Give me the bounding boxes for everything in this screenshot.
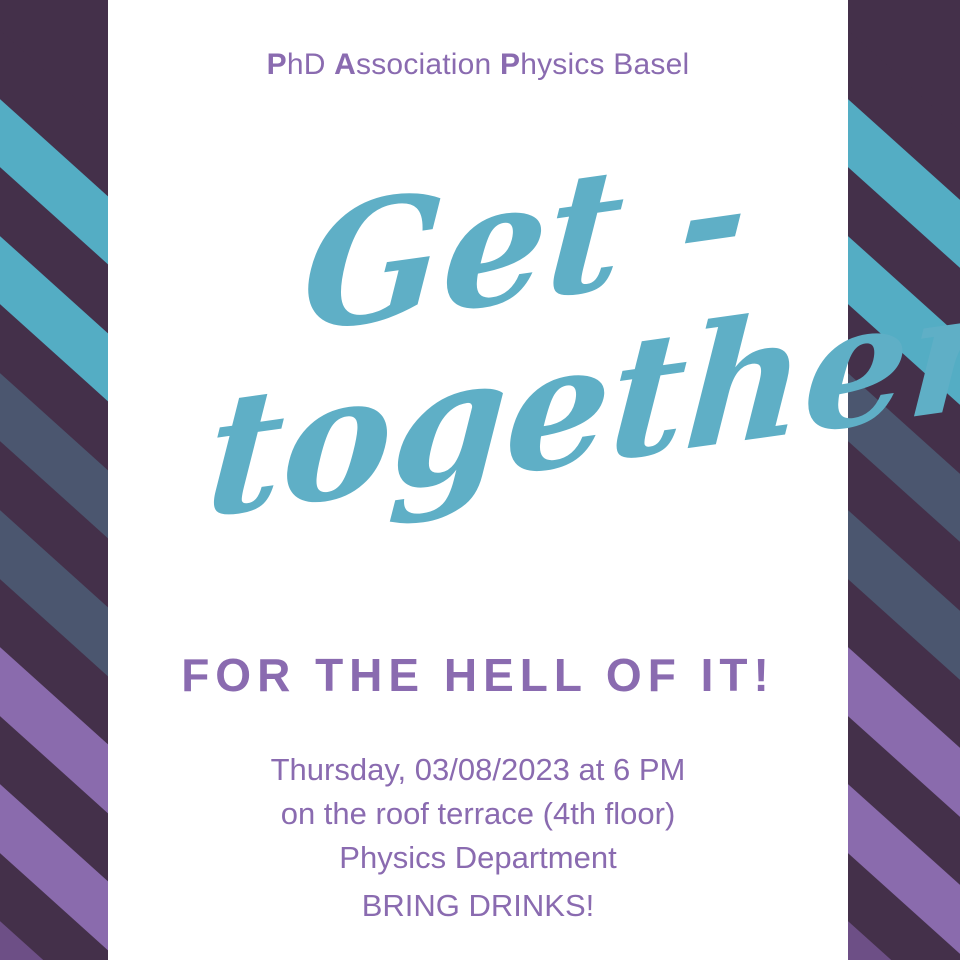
event-details: Thursday, 03/08/2023 at 6 PM on the roof… <box>108 748 848 880</box>
left-decorative-border <box>0 0 108 960</box>
detail-line-venue: Physics Department <box>108 836 848 880</box>
organization-title-part-4: P <box>500 48 520 81</box>
organization-title-part-2: A <box>334 48 356 81</box>
organization-title-part-3: ssociation <box>356 48 500 81</box>
organization-title-part-0: P <box>267 48 287 81</box>
detail-line-datetime: Thursday, 03/08/2023 at 6 PM <box>108 748 848 792</box>
detail-line-location: on the roof terrace (4th floor) <box>108 792 848 836</box>
organization-title-part-1: hD <box>287 48 334 81</box>
right-decorative-border <box>848 0 960 960</box>
organization-title-part-5: hysics Basel <box>520 48 689 81</box>
poster-canvas: PhD Association Physics Basel Get - toge… <box>0 0 960 960</box>
headline-script: Get - together! <box>108 150 848 620</box>
content-panel: PhD Association Physics Basel Get - toge… <box>108 0 848 960</box>
tagline: FOR THE HELL OF IT! <box>108 648 848 702</box>
organization-title: PhD Association Physics Basel <box>108 48 848 82</box>
call-to-action: BRING DRINKS! <box>108 888 848 924</box>
